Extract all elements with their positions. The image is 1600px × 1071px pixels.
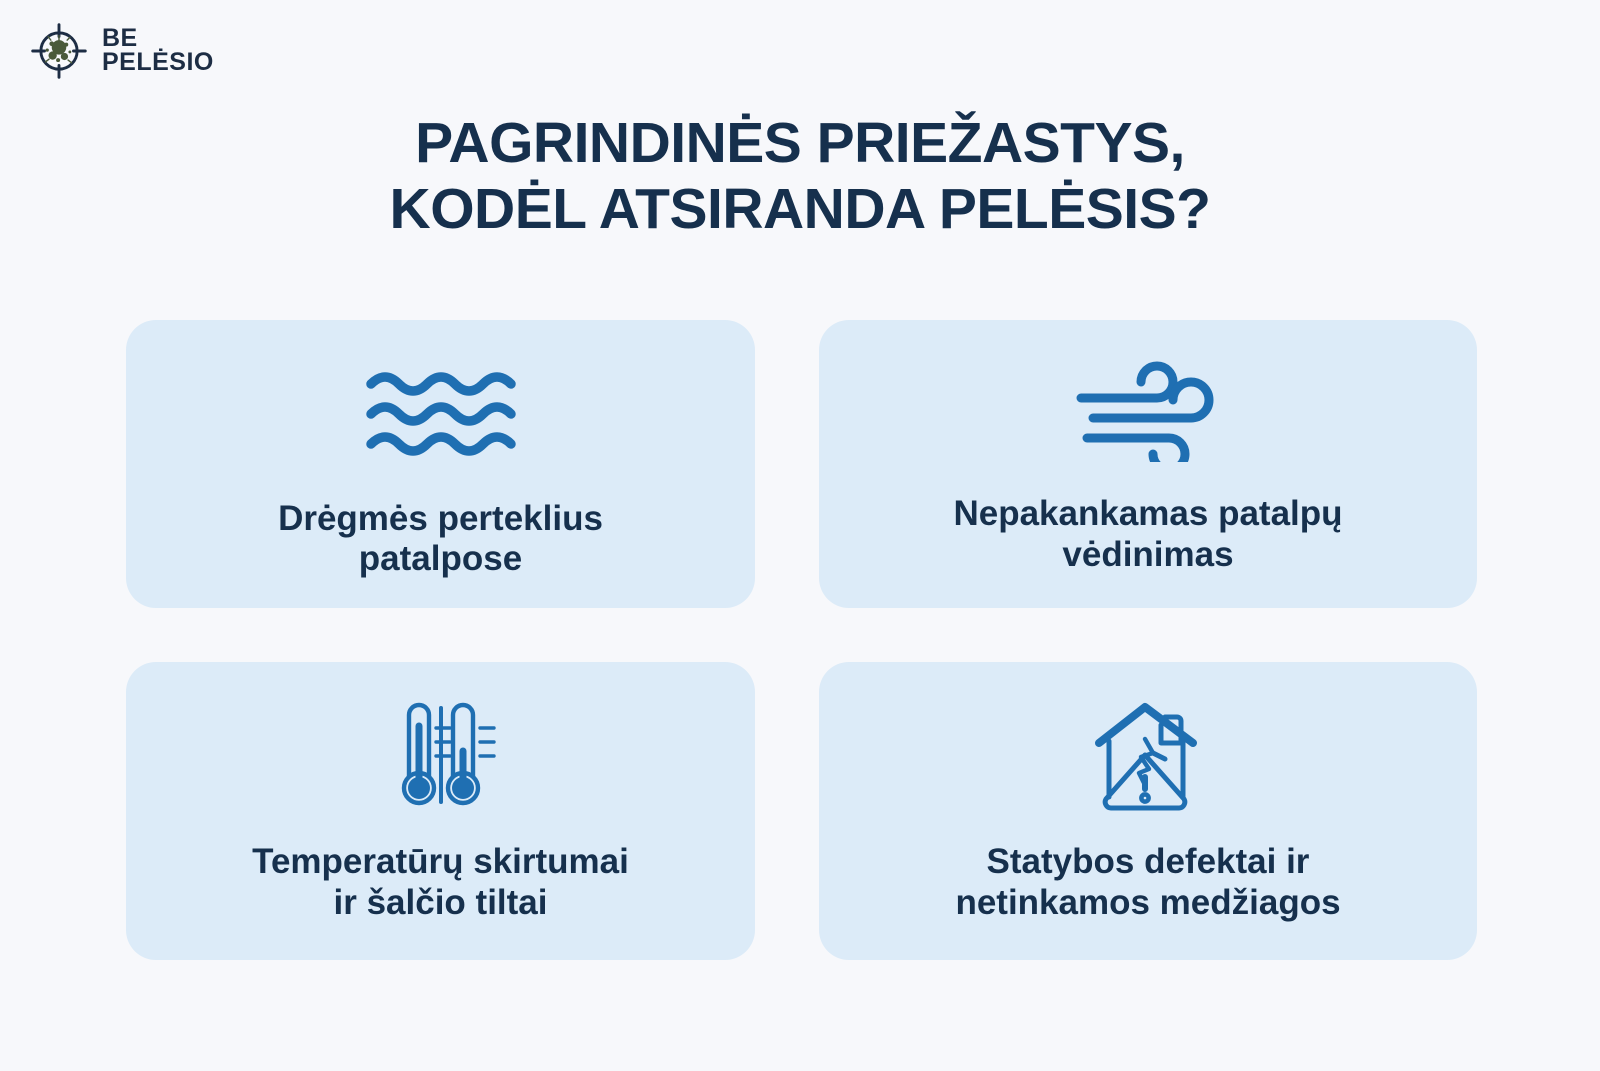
card-construction-label: Statybos defektai ir netinkamos medžiago…	[955, 842, 1340, 923]
card-moisture[interactable]: Drėgmės perteklius patalpose	[126, 320, 755, 608]
card-ventilation[interactable]: Nepakankamas patalpų vėdinimas	[819, 320, 1477, 608]
card-temperature-label: Temperatūrų skirtumai ir šalčio tiltai	[252, 842, 629, 923]
mold-target-crosshair-icon	[30, 22, 88, 80]
two-thermometers-icon	[378, 698, 504, 810]
page-title-line-1: PAGRINDINĖS PRIEŽASTYS,	[120, 110, 1480, 176]
brand-logo[interactable]: BE PELĖSIO	[30, 22, 214, 80]
water-waves-icon	[365, 360, 517, 469]
card-moisture-label: Drėgmės perteklius patalpose	[278, 499, 603, 580]
brand-line-2: PELĖSIO	[102, 51, 214, 75]
brand-wordmark: BE PELĖSIO	[102, 27, 214, 75]
causes-grid: Drėgmės perteklius patalpose Nepakankama…	[126, 320, 1477, 960]
wind-icon	[1073, 354, 1223, 466]
page-title: PAGRINDINĖS PRIEŽASTYS, KODĖL ATSIRANDA …	[0, 110, 1600, 242]
card-temperature[interactable]: Temperatūrų skirtumai ir šalčio tiltai	[126, 662, 755, 960]
page-title-line-2: KODĖL ATSIRANDA PELĖSIS?	[120, 176, 1480, 242]
card-construction[interactable]: Statybos defektai ir netinkamos medžiago…	[819, 662, 1477, 960]
card-ventilation-label: Nepakankamas patalpų vėdinimas	[953, 494, 1342, 575]
cracked-house-warning-icon	[1087, 696, 1209, 808]
